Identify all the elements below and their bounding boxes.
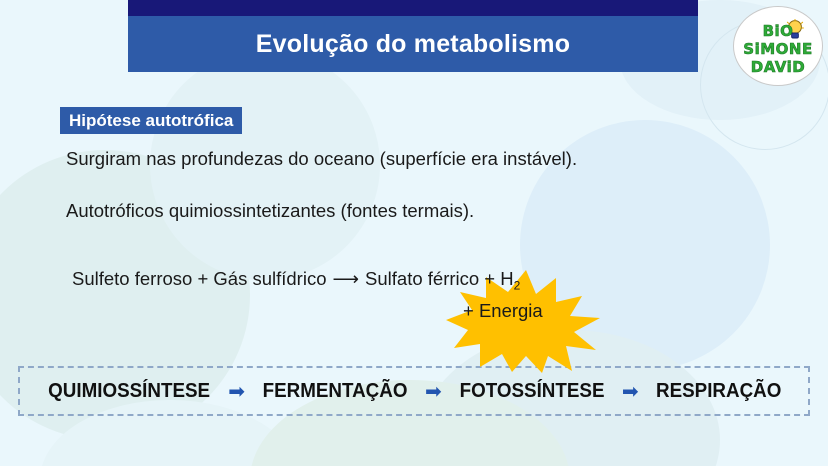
chemical-equation: Sulfeto ferroso + Gás sulfídrico⟶Sulfato… — [72, 268, 520, 293]
logo-line-2: SiMONE — [734, 40, 822, 58]
bio-simone-david-logo: BiO SiMONE DAViD — [733, 6, 823, 86]
slide-canvas: Evolução do metabolismo BiO SiMONE DAViD… — [0, 0, 828, 466]
logo-line-1: BiO — [734, 22, 823, 40]
page-title: Evolução do metabolismo — [256, 30, 570, 59]
flow-step-fotossintese: FOTOSSÍNTESE — [459, 380, 604, 403]
body-text-line-2: Autotróficos quimiossintetizantes (fonte… — [66, 200, 474, 222]
flow-step-quimiossintese: QUIMIOSSÍNTESE — [48, 380, 210, 403]
header-accent-strip — [128, 0, 698, 16]
metabolism-flow-bar: QUIMIOSSÍNTESE ➡ FERMENTAÇÃO ➡ FOTOSSÍNT… — [18, 366, 810, 416]
body-text-line-1: Surgiram nas profundezas do oceano (supe… — [66, 148, 577, 170]
section-badge-label: Hipótese autotrófica — [69, 111, 233, 131]
equation-energy-label: + Energia — [463, 300, 543, 322]
flow-arrow-icon: ➡ — [425, 381, 442, 401]
flow-step-respiracao: RESPIRAÇÃO — [656, 380, 781, 403]
equation-products: Sulfato férrico + H — [365, 268, 514, 289]
equation-subscript: 2 — [514, 279, 521, 293]
flow-arrow-icon: ➡ — [228, 381, 245, 401]
logo-line-3: DAViD — [734, 58, 822, 76]
flow-arrow-icon: ➡ — [622, 381, 639, 401]
equation-reactants: Sulfeto ferroso + Gás sulfídrico — [72, 268, 327, 289]
flow-step-fermentacao: FERMENTAÇÃO — [263, 380, 408, 403]
title-bar: Evolução do metabolismo — [128, 16, 698, 72]
section-badge: Hipótese autotrófica — [60, 107, 242, 134]
equation-arrow-icon: ⟶ — [327, 269, 366, 290]
